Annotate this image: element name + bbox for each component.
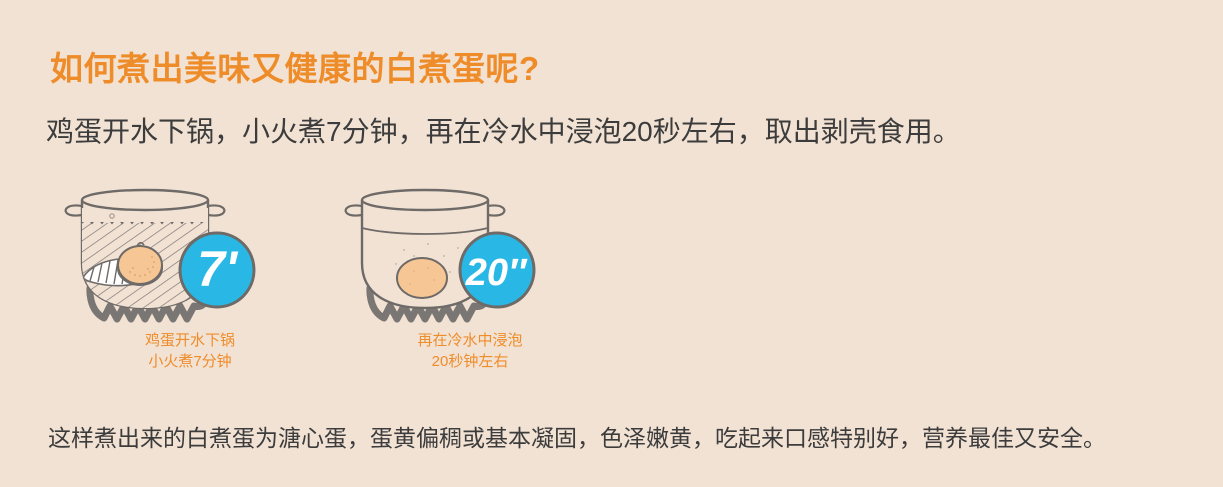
step-cool: 20″ 再在冷水中浸泡 20秒钟左右 xyxy=(340,168,640,388)
caption-line-1: 再在冷水中浸泡 xyxy=(340,330,600,351)
step-cool-caption: 再在冷水中浸泡 20秒钟左右 xyxy=(340,330,600,372)
page-title: 如何煮出美味又健康的白煮蛋呢? xyxy=(50,42,540,90)
pot-boiling-water-with-egg-illustration: 7' xyxy=(60,168,320,323)
time-badge-7: 7' xyxy=(180,233,254,307)
pot-rim xyxy=(362,190,488,210)
egg-icon xyxy=(397,258,447,298)
infographic-page: 如何煮出美味又健康的白煮蛋呢? 鸡蛋开水下锅，小火煮7分钟，再在冷水中浸泡20秒… xyxy=(0,0,1223,487)
svg-text:20″: 20″ xyxy=(465,252,528,294)
caption-line-2: 小火煮7分钟 xyxy=(60,351,320,372)
pot-rim xyxy=(82,190,208,210)
pot-handle-right-icon xyxy=(488,205,504,215)
caption-line-2: 20秒钟左右 xyxy=(340,351,600,372)
step-boil: 7' 鸡蛋开水下锅 小火煮7分钟 xyxy=(60,168,360,388)
pot-handle-left-icon xyxy=(66,205,82,215)
time-badge-20: 20″ xyxy=(460,233,534,307)
pot-handle-right-icon xyxy=(208,205,224,215)
caption-line-1: 鸡蛋开水下锅 xyxy=(60,330,320,351)
pot-cold-water-with-egg-illustration: 20″ xyxy=(340,168,600,323)
closing-paragraph: 这样煮出来的白煮蛋为溏心蛋，蛋黄偏稠或基本凝固，色泽嫩黄，吃起来口感特别好，营养… xyxy=(48,419,1106,453)
lead-paragraph: 鸡蛋开水下锅，小火煮7分钟，再在冷水中浸泡20秒左右，取出剥壳食用。 xyxy=(46,110,961,150)
pot-handle-left-icon xyxy=(346,205,362,215)
steps-container: 7' 鸡蛋开水下锅 小火煮7分钟 xyxy=(0,168,640,388)
svg-text:7': 7' xyxy=(197,241,239,297)
step-boil-caption: 鸡蛋开水下锅 小火煮7分钟 xyxy=(60,330,320,372)
